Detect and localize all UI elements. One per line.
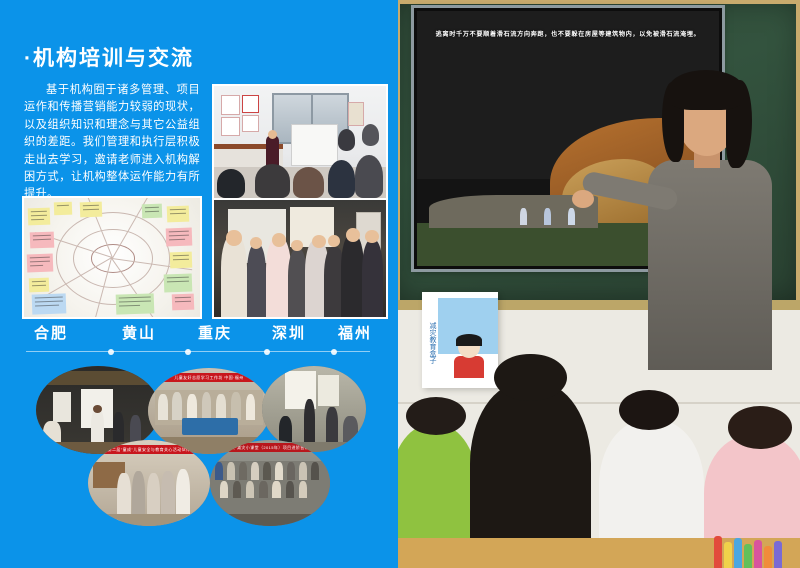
training-room-illustration (214, 86, 386, 198)
mindmap-poster-photo (22, 196, 202, 319)
city-item-2[interactable]: 重庆 (198, 322, 232, 343)
workshop-photo-4: 第二届"童成"儿童安全与教育关心活动伙伴 (88, 440, 210, 526)
staff-group-photo (212, 198, 388, 319)
body-paragraph: 基于机构囿于诸多管理、项目运作和传播营销能力较弱的现状，以及组织知识和理念与其它… (24, 82, 200, 204)
staff-group-illustration (214, 200, 386, 317)
city-list: 合肥 黄山 重庆 深圳 福州 (18, 322, 380, 358)
workshop-banner-5: 平安·减灾小课堂（2015年）项目进阶营结训 (220, 443, 321, 452)
mindmap-illustration (24, 198, 200, 317)
city-divider-line (26, 351, 370, 352)
workshop-banner-4: 第二届"童成"儿童安全与教育关心活动伙伴 (98, 445, 200, 454)
photo-collage: 儿童友好志愿学习工作坊 中国·福州 (0, 362, 398, 522)
brochure-page: ·机构培训与交流 基于机构囿于诸多管理、项目运作和传播营销能力较弱的现状，以及组… (0, 0, 800, 568)
city-item-3[interactable]: 深圳 (272, 322, 306, 343)
teacher-figure (634, 70, 784, 370)
workshop-banner-2: 儿童友好志愿学习工作坊 中国·福州 (158, 373, 260, 382)
projector-caption: 逃离时千万不要顺着滑石流方向奔跑，也不要躲在房屋等建筑物内，以免被滑石流淹埋。 (435, 29, 701, 40)
pen-holder (714, 524, 786, 568)
city-item-0[interactable]: 合肥 (34, 322, 68, 343)
page-title: ·机构培训与交流 (24, 42, 194, 72)
city-item-4[interactable]: 福州 (338, 322, 372, 343)
city-item-1[interactable]: 黄山 (122, 322, 156, 343)
classroom-photo: 逃离时千万不要顺着滑石流方向奔跑，也不要躲在房屋等建筑物内，以免被滑石流淹埋。 … (398, 0, 800, 568)
left-blue-panel: ·机构培训与交流 基于机构囿于诸多管理、项目运作和传播营销能力较弱的现状，以及组… (0, 0, 398, 568)
workshop-photo-5: 平安·减灾小课堂（2015年）项目进阶营结训 (210, 440, 330, 526)
student-audience (398, 330, 800, 568)
training-room-photo (212, 84, 388, 200)
